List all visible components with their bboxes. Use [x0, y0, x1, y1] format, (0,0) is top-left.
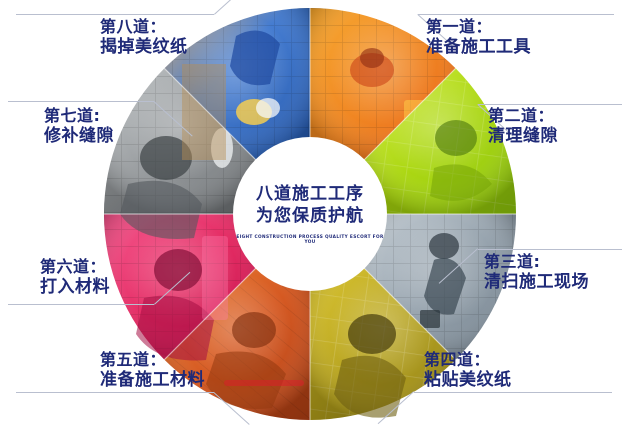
step-label-4[interactable]: 第四道： 粘贴美纹纸: [424, 351, 512, 390]
step-label-8[interactable]: 第八道： 揭掉美纹纸: [100, 18, 188, 57]
step-label-3-name: 清扫施工现场: [484, 272, 589, 292]
step-label-5[interactable]: 第五道： 准备施工材料: [100, 351, 205, 390]
step-label-1-name: 准备施工工具: [426, 37, 531, 57]
infographic-canvas: 八道施工工序 为您保质护航 EIGHT CONSTRUCTION PROCESS…: [0, 0, 628, 427]
step-label-6-name: 打入材料: [40, 277, 110, 297]
step-label-7-name: 修补缝隙: [44, 126, 114, 146]
step-label-5-number: 第五道：: [100, 351, 205, 370]
step-label-6[interactable]: 第六道： 打入材料: [40, 258, 110, 297]
step-label-7-number: 第七道:: [44, 107, 114, 126]
step-label-4-number: 第四道：: [424, 351, 512, 370]
step-label-8-number: 第八道：: [100, 18, 188, 37]
step-label-2[interactable]: 第二道： 清理缝隙: [488, 107, 558, 146]
center-title-line1: 八道施工工序: [256, 184, 364, 204]
step-label-3-number: 第三道:: [484, 253, 589, 272]
step-label-8-name: 揭掉美纹纸: [100, 37, 188, 57]
step-label-3[interactable]: 第三道: 清扫施工现场: [484, 253, 589, 292]
step-label-4-name: 粘贴美纹纸: [424, 370, 512, 390]
center-subtitle-english: EIGHT CONSTRUCTION PROCESS QUALITY ESCOR…: [232, 234, 387, 244]
step-label-2-name: 清理缝隙: [488, 126, 558, 146]
step-label-5-name: 准备施工材料: [100, 370, 205, 390]
step-label-1-number: 第一道：: [426, 18, 531, 37]
center-title: 八道施工工序 为您保质护航: [256, 184, 364, 228]
step-label-2-number: 第二道：: [488, 107, 558, 126]
center-title-line2: 为您保质护航: [256, 206, 364, 226]
step-label-6-number: 第六道：: [40, 258, 110, 277]
step-label-1[interactable]: 第一道： 准备施工工具: [426, 18, 531, 57]
step-label-7[interactable]: 第七道: 修补缝隙: [44, 107, 114, 146]
center-hub: 八道施工工序 为您保质护航 EIGHT CONSTRUCTION PROCESS…: [234, 138, 386, 290]
